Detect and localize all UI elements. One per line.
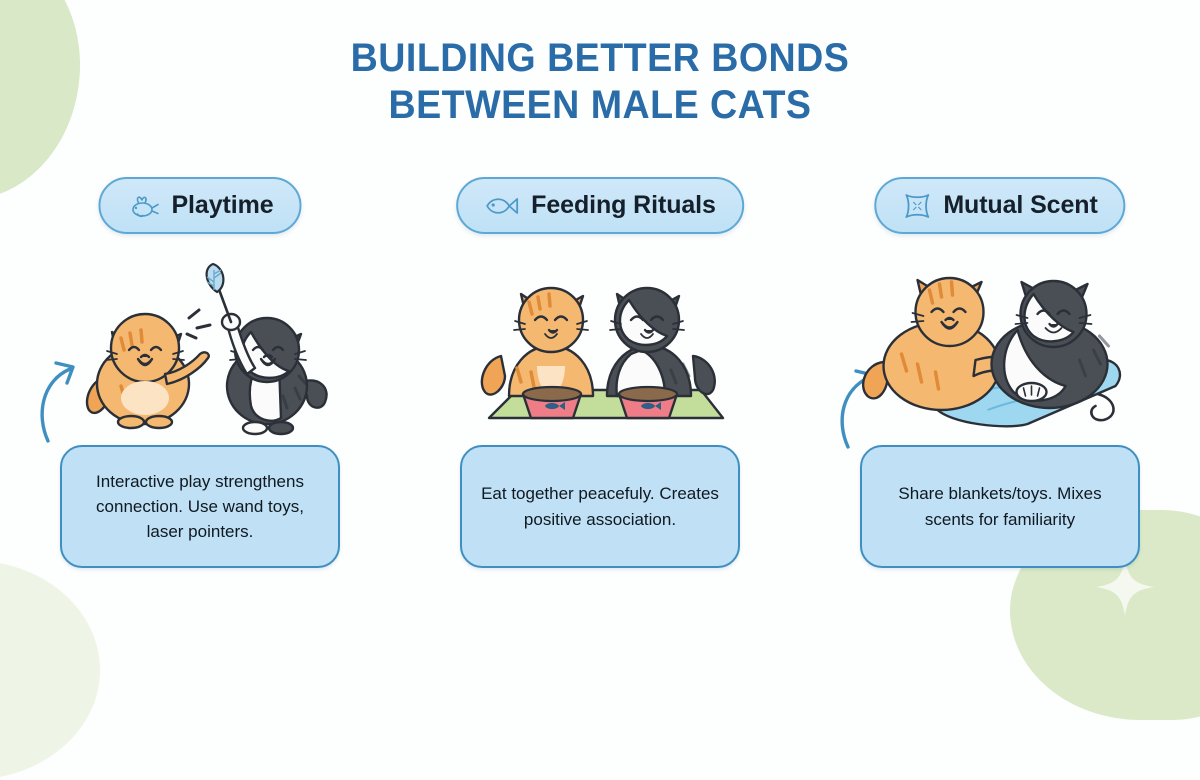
caption-feeding-rituals: Eat together peacefuly. Creates positive… <box>460 445 740 568</box>
mouse-toy-icon <box>126 192 160 220</box>
infographic-canvas: BUILDING BETTER BONDS BETWEEN MALE CATS … <box>0 0 1200 630</box>
feather-wand-icon <box>207 264 231 322</box>
column-feeding-rituals: Feeding Rituals <box>400 0 800 630</box>
pill-feeding-rituals[interactable]: Feeding Rituals <box>456 177 744 234</box>
food-bowl-left <box>523 387 581 418</box>
pill-label-mutual-scent: Mutual Scent <box>943 191 1097 220</box>
caption-mutual-scent: Share blankets/toys. Mixes scents for fa… <box>860 445 1140 568</box>
pill-label-playtime: Playtime <box>171 191 273 220</box>
fish-icon <box>484 193 520 219</box>
column-mutual-scent: Mutual Scent <box>800 0 1200 630</box>
pillow-blanket-icon <box>902 191 932 221</box>
caption-playtime: Interactive play strengthens connection.… <box>60 445 340 568</box>
pill-mutual-scent[interactable]: Mutual Scent <box>874 177 1125 234</box>
pill-label-feeding-rituals: Feeding Rituals <box>531 191 716 220</box>
caption-text: Eat together peacefuly. Creates positive… <box>478 481 722 531</box>
pill-playtime[interactable]: Playtime <box>98 177 301 234</box>
caption-text: Interactive play strengthens connection.… <box>78 469 322 544</box>
illustration-cats-cuddling <box>858 268 1143 438</box>
caption-text: Share blankets/toys. Mixes scents for fa… <box>878 481 1122 531</box>
food-bowl-right <box>619 387 677 418</box>
illustration-cats-playing <box>55 258 345 438</box>
illustration-cats-eating <box>465 272 735 437</box>
column-playtime: Playtime <box>0 0 400 630</box>
